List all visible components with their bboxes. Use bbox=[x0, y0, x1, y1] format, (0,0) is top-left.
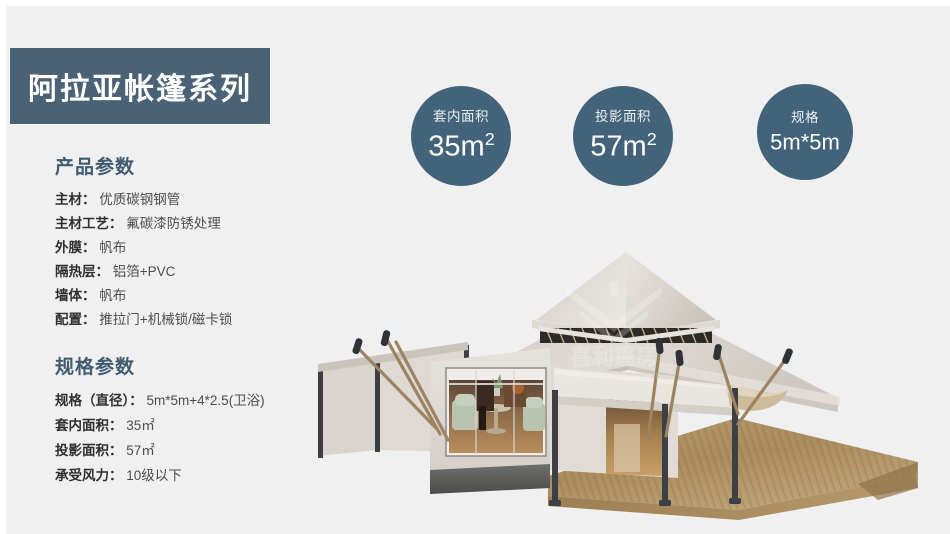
spec-value: 推拉门+机械锁/磁卡锁 bbox=[99, 312, 232, 327]
matte-border-top bbox=[0, 0, 950, 6]
page-title: 阿拉亚帐篷系列 bbox=[28, 64, 252, 108]
spec-row: 隔热层： 铝箔+PVC bbox=[55, 260, 355, 284]
specifications-panel: 产品参数 主材： 优质碳钢钢管 主材工艺： 氟碳漆防锈处理 外膜： 帆布 隔热层… bbox=[55, 152, 355, 508]
badge-label: 投影面积 bbox=[595, 110, 651, 124]
spec-label: 套内面积： bbox=[55, 418, 123, 433]
spec-label: 外膜： bbox=[55, 240, 96, 255]
spec-row: 承受风力： 10级以下 bbox=[55, 463, 355, 488]
slide-canvas: 阿拉亚帐篷系列 产品参数 主材： 优质碳钢钢管 主材工艺： 氟碳漆防锈处理 外膜… bbox=[0, 0, 950, 534]
spec-row: 主材： 优质碳钢钢管 bbox=[55, 188, 355, 212]
badge-interior-area: 套内面积 35m2 bbox=[411, 86, 511, 186]
product-params-heading: 产品参数 bbox=[55, 152, 355, 179]
badge-unit: 2 bbox=[485, 129, 494, 149]
spec-row: 配置： 推拉门+机械锁/磁卡锁 bbox=[55, 308, 355, 332]
spec-label: 投影面积： bbox=[55, 443, 123, 458]
spec-value: 5m*5m+4*2.5(卫浴) bbox=[147, 393, 265, 408]
spec-row: 外膜： 帆布 bbox=[55, 236, 355, 260]
badge-value: 35m2 bbox=[428, 130, 493, 162]
spec-value: 帆布 bbox=[99, 288, 126, 303]
badge-label: 规格 bbox=[791, 111, 819, 125]
tent-illustration: 喜利篷房 HAPPY TENT bbox=[318, 238, 950, 534]
spec-value: 优质碳钢钢管 bbox=[99, 192, 180, 207]
spec-label: 隔热层： bbox=[55, 264, 109, 279]
spec-row: 主材工艺： 氟碳漆防锈处理 bbox=[55, 212, 355, 236]
badge-dimensions: 规格 5m*5m bbox=[757, 84, 853, 180]
badge-projected-area: 投影面积 57m2 bbox=[573, 86, 673, 186]
spec-params-heading: 规格参数 bbox=[55, 352, 355, 379]
watermark-text: 喜利篷房 bbox=[570, 344, 658, 369]
spec-label: 配置： bbox=[55, 312, 96, 327]
matte-border-left bbox=[0, 0, 6, 534]
badge-unit: 2 bbox=[647, 129, 656, 149]
spec-row: 墙体： 帆布 bbox=[55, 284, 355, 308]
spec-value: 10级以下 bbox=[126, 468, 182, 483]
title-banner: 阿拉亚帐篷系列 bbox=[10, 48, 270, 124]
spec-params-list: 规格（直径）： 5m*5m+4*2.5(卫浴) 套内面积： 35㎡ 投影面积： … bbox=[55, 388, 355, 488]
spec-row: 规格（直径）： 5m*5m+4*2.5(卫浴) bbox=[55, 388, 355, 413]
badge-number: 35m bbox=[428, 131, 484, 163]
spec-value: 35㎡ bbox=[126, 418, 155, 433]
spec-params-block: 规格参数 规格（直径）： 5m*5m+4*2.5(卫浴) 套内面积： 35㎡ 投… bbox=[55, 352, 355, 488]
spec-value: 氟碳漆防锈处理 bbox=[126, 216, 221, 231]
spec-row: 投影面积： 57㎡ bbox=[55, 438, 355, 463]
badge-number: 5m*5m bbox=[770, 129, 840, 154]
badge-label: 套内面积 bbox=[433, 110, 489, 124]
badge-value: 5m*5m bbox=[770, 130, 840, 153]
spec-row: 套内面积： 35㎡ bbox=[55, 413, 355, 438]
spec-label: 承受风力： bbox=[55, 468, 123, 483]
spec-label: 主材工艺： bbox=[55, 216, 123, 231]
spec-label: 规格（直径）： bbox=[55, 393, 143, 408]
spec-label: 墙体： bbox=[55, 288, 96, 303]
spec-value: 帆布 bbox=[99, 240, 126, 255]
product-params-list: 主材： 优质碳钢钢管 主材工艺： 氟碳漆防锈处理 外膜： 帆布 隔热层： 铝箔+… bbox=[55, 188, 355, 332]
badge-number: 57m bbox=[590, 131, 646, 163]
watermark-subtext: HAPPY TENT bbox=[565, 371, 664, 383]
spec-value: 57㎡ bbox=[126, 443, 155, 458]
spec-label: 主材： bbox=[55, 192, 96, 207]
spec-value: 铝箔+PVC bbox=[113, 264, 176, 279]
badge-value: 57m2 bbox=[590, 130, 655, 162]
